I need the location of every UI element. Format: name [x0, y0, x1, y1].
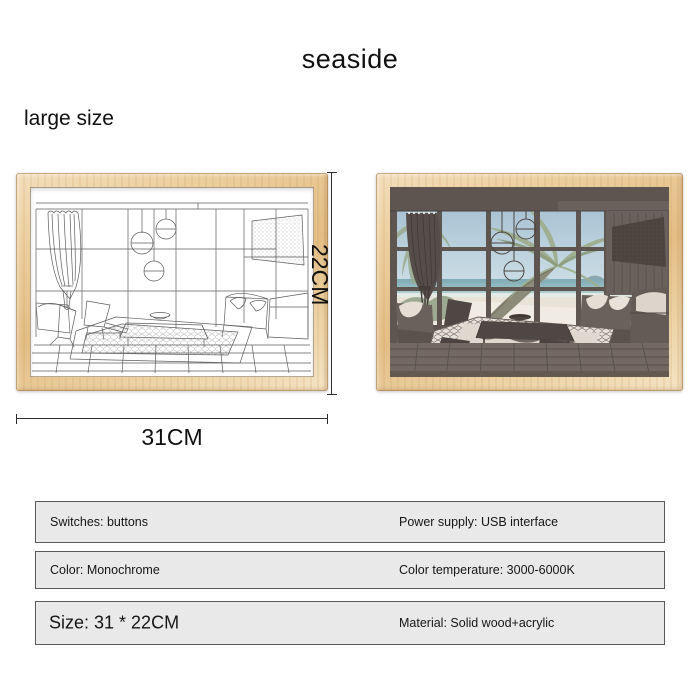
spec-color-temperature: Color temperature: 3000-6000K [399, 563, 575, 577]
product-image-canvas: seaside large size [0, 0, 700, 700]
height-tick-end [327, 394, 337, 395]
width-tick-start [16, 414, 17, 424]
spec-size: Size: 31 * 22CM [49, 613, 179, 634]
spec-color: Color: Monochrome [50, 563, 160, 577]
height-dimension-label: 22CM [306, 244, 333, 305]
lit-frame [376, 173, 683, 391]
frame-bevel-left [16, 173, 328, 391]
size-variant-label: large size [24, 107, 114, 131]
unlit-frame [16, 173, 328, 391]
spec-power-supply: Power supply: USB interface [399, 515, 558, 529]
width-dimension-bar [16, 418, 328, 419]
spec-row: Color: Monochrome Color temperature: 300… [35, 551, 665, 589]
width-dimension-label: 31CM [16, 424, 328, 451]
spec-row: Switches: buttons Power supply: USB inte… [35, 501, 665, 543]
spec-row: Size: 31 * 22CM Material: Solid wood+acr… [35, 601, 665, 645]
spec-switches: Switches: buttons [50, 515, 148, 529]
spec-material: Material: Solid wood+acrylic [399, 616, 554, 630]
width-tick-end [327, 414, 328, 424]
frame-bevel-right [376, 173, 683, 391]
page-title: seaside [0, 44, 700, 75]
height-tick-start [327, 172, 337, 173]
width-dimension-line [16, 414, 328, 424]
